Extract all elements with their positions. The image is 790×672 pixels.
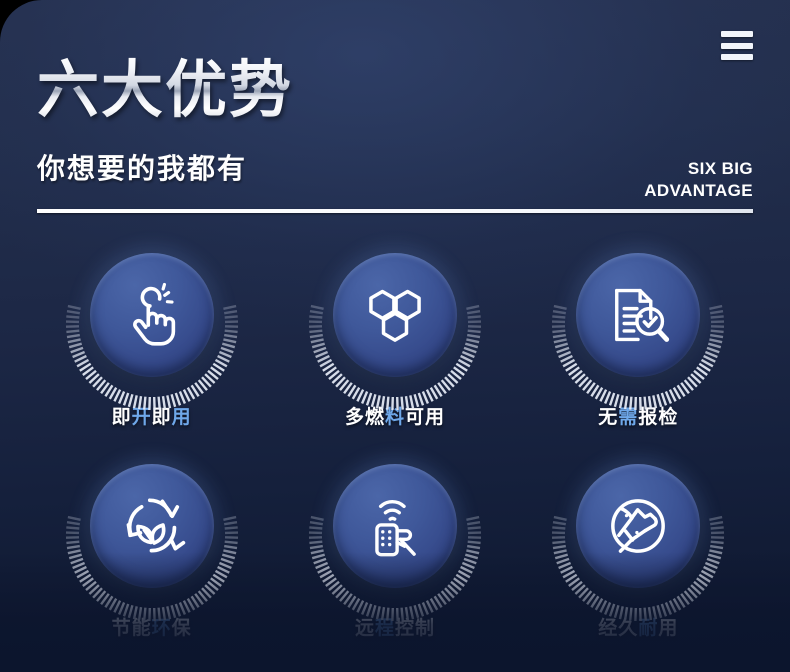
document-magnifier-check-icon xyxy=(604,281,672,349)
feature-icon-circle[interactable] xyxy=(576,253,700,377)
feature-label-char: 多 xyxy=(345,407,365,428)
eyebrow-line-2: ADVANTAGE xyxy=(473,180,753,202)
hand-touch-icon xyxy=(118,281,186,349)
feature-dial xyxy=(307,236,483,394)
feature-label-char: 用 xyxy=(425,407,445,428)
feature-label-char: 环 xyxy=(152,618,172,639)
feature-item[interactable]: 无需报检 xyxy=(517,236,760,429)
feature-label-char: 需 xyxy=(618,407,638,428)
feature-dial xyxy=(64,236,240,394)
feature-icon-circle[interactable] xyxy=(576,464,700,588)
hamburger-bar xyxy=(721,54,753,60)
feature-label-char: 制 xyxy=(415,618,435,639)
feature-label-char: 报 xyxy=(638,407,658,428)
feature-label-char: 能 xyxy=(132,618,152,639)
hand-remote-control-icon xyxy=(361,492,429,560)
promo-page: 六大优势 你想要的我都有 SIX BIG ADVANTAGE 即开即用 多燃料可… xyxy=(0,0,790,672)
feature-label-char: 无 xyxy=(598,407,618,428)
feature-label: 经久耐用 xyxy=(598,613,678,640)
feature-dial xyxy=(550,447,726,605)
feature-item[interactable]: 远程控制 xyxy=(273,447,516,640)
feature-icon-circle[interactable] xyxy=(333,464,457,588)
feature-icon-circle[interactable] xyxy=(90,253,214,377)
feature-label-char: 控 xyxy=(395,618,415,639)
feature-label-char: 远 xyxy=(355,618,375,639)
hamburger-icon[interactable] xyxy=(721,31,753,60)
feature-item[interactable]: 多燃料可用 xyxy=(273,236,516,429)
feature-label-char: 用 xyxy=(172,407,192,428)
feature-label-char: 久 xyxy=(618,618,638,639)
promo-panel: 六大优势 你想要的我都有 SIX BIG ADVANTAGE 即开即用 多燃料可… xyxy=(0,0,790,672)
feature-label: 多燃料可用 xyxy=(345,402,445,429)
feature-dial xyxy=(64,447,240,605)
feature-item[interactable]: 节能环保 xyxy=(30,447,273,640)
feature-label: 无需报检 xyxy=(598,402,678,429)
feature-label-char: 可 xyxy=(405,407,425,428)
feature-label: 远程控制 xyxy=(355,613,435,640)
page-subtitle: 你想要的我都有 xyxy=(37,152,247,186)
feature-label: 节能环保 xyxy=(112,613,192,640)
hamburger-bar xyxy=(721,31,753,37)
feature-dial xyxy=(307,447,483,605)
feature-label-char: 保 xyxy=(172,618,192,639)
feature-grid: 即开即用 多燃料可用 无需报检 节能环保 xyxy=(30,236,760,640)
feature-label-char: 检 xyxy=(658,407,678,428)
feature-item[interactable]: 即开即用 xyxy=(30,236,273,429)
strong-arm-globe-icon xyxy=(603,491,673,561)
honeycomb-hexagons-icon xyxy=(360,280,430,350)
feature-label-char: 程 xyxy=(375,618,395,639)
eyebrow-line-1: SIX BIG xyxy=(473,158,753,180)
feature-icon-circle[interactable] xyxy=(333,253,457,377)
feature-label-char: 用 xyxy=(658,618,678,639)
hamburger-bar xyxy=(721,43,753,49)
feature-item[interactable]: 经久耐用 xyxy=(517,447,760,640)
feature-label-char: 耐 xyxy=(638,618,658,639)
feature-dial xyxy=(550,236,726,394)
feature-label-char: 开 xyxy=(132,407,152,428)
english-eyebrow: SIX BIG ADVANTAGE xyxy=(473,158,753,202)
feature-icon-circle[interactable] xyxy=(90,464,214,588)
feature-label-char: 燃 xyxy=(365,407,385,428)
feature-label-char: 节 xyxy=(112,618,132,639)
feature-label-char: 即 xyxy=(152,407,172,428)
feature-label-char: 经 xyxy=(598,618,618,639)
recycle-leaf-icon xyxy=(117,491,187,561)
feature-label: 即开即用 xyxy=(112,402,192,429)
header-divider xyxy=(37,209,753,213)
page-title: 六大优势 xyxy=(37,55,293,127)
feature-label-char: 即 xyxy=(112,407,132,428)
feature-label-char: 料 xyxy=(385,407,405,428)
